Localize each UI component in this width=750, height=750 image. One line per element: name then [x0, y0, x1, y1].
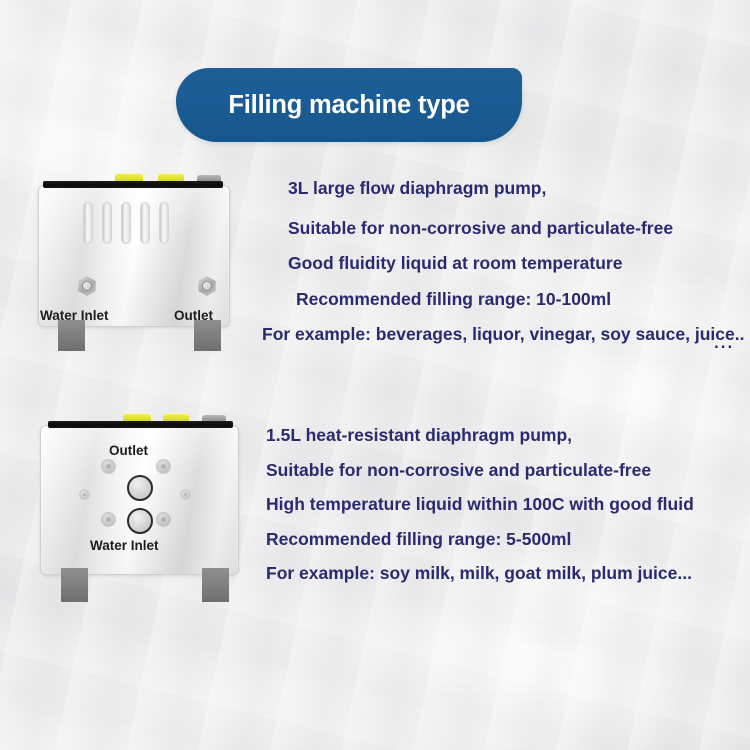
vent-slot [140, 202, 150, 244]
outlet-label: Outlet [109, 443, 148, 458]
machine-top-rail [43, 181, 223, 188]
water-inlet-fitting [77, 276, 97, 296]
spec-line: Recommended filling range: 5-500ml [266, 531, 694, 549]
spec-line: For example: soy milk, milk, goat milk, … [266, 565, 694, 583]
spec-line: Suitable for non-corrosive and particula… [288, 220, 744, 238]
vent-slot [159, 202, 169, 244]
fitting-bore [82, 281, 92, 291]
machine-body [38, 185, 230, 327]
machine-leg-left [61, 568, 88, 602]
water-inlet-port [127, 508, 153, 534]
spec-line: Suitable for non-corrosive and particula… [266, 462, 694, 480]
bolt-hole [156, 459, 171, 474]
spec-trailing-dots: ... [714, 333, 734, 353]
bolt-hole [101, 512, 116, 527]
vent-slot [121, 202, 131, 244]
spec-line: For example: beverages, liquor, vinegar,… [262, 326, 744, 344]
vent-slot [83, 202, 93, 244]
machine-top-rail [48, 421, 233, 428]
spec-line: 3L large flow diaphragm pump, [288, 180, 744, 198]
machine-illustration-1-5l: Outlet Water Inlet [30, 410, 245, 610]
spec-line: 1.5L heat-resistant diaphragm pump, [266, 427, 694, 445]
fitting-bore [202, 281, 212, 291]
spec-line: Good fluidity liquid at room temperature [288, 255, 744, 273]
spec-line: High temperature liquid within 100C with… [266, 496, 694, 514]
outlet-fitting [197, 276, 217, 296]
outlet-label: Outlet [174, 308, 213, 323]
bolt-hole [180, 489, 191, 500]
outlet-port [127, 475, 153, 501]
water-inlet-label: Water Inlet [40, 308, 109, 323]
infographic-page: Filling machine type [0, 0, 750, 750]
machine-leg-right [202, 568, 229, 602]
bolt-hole [101, 459, 116, 474]
title-banner: Filling machine type [176, 68, 522, 142]
water-inlet-label: Water Inlet [90, 538, 159, 553]
bolt-hole [79, 489, 90, 500]
spec-block-3l: 3L large flow diaphragm pump, Suitable f… [262, 180, 744, 344]
page-title: Filling machine type [228, 91, 469, 120]
spec-block-1-5l: 1.5L heat-resistant diaphragm pump, Suit… [266, 427, 694, 583]
vent-slots [83, 202, 169, 244]
vent-slot [102, 202, 112, 244]
spec-line: Recommended filling range: 10-100ml [296, 291, 744, 309]
machine-leg-right [194, 320, 221, 351]
machine-illustration-3l: Water Inlet Outlet [30, 170, 240, 360]
machine-leg-left [58, 320, 85, 351]
bolt-hole [156, 512, 171, 527]
